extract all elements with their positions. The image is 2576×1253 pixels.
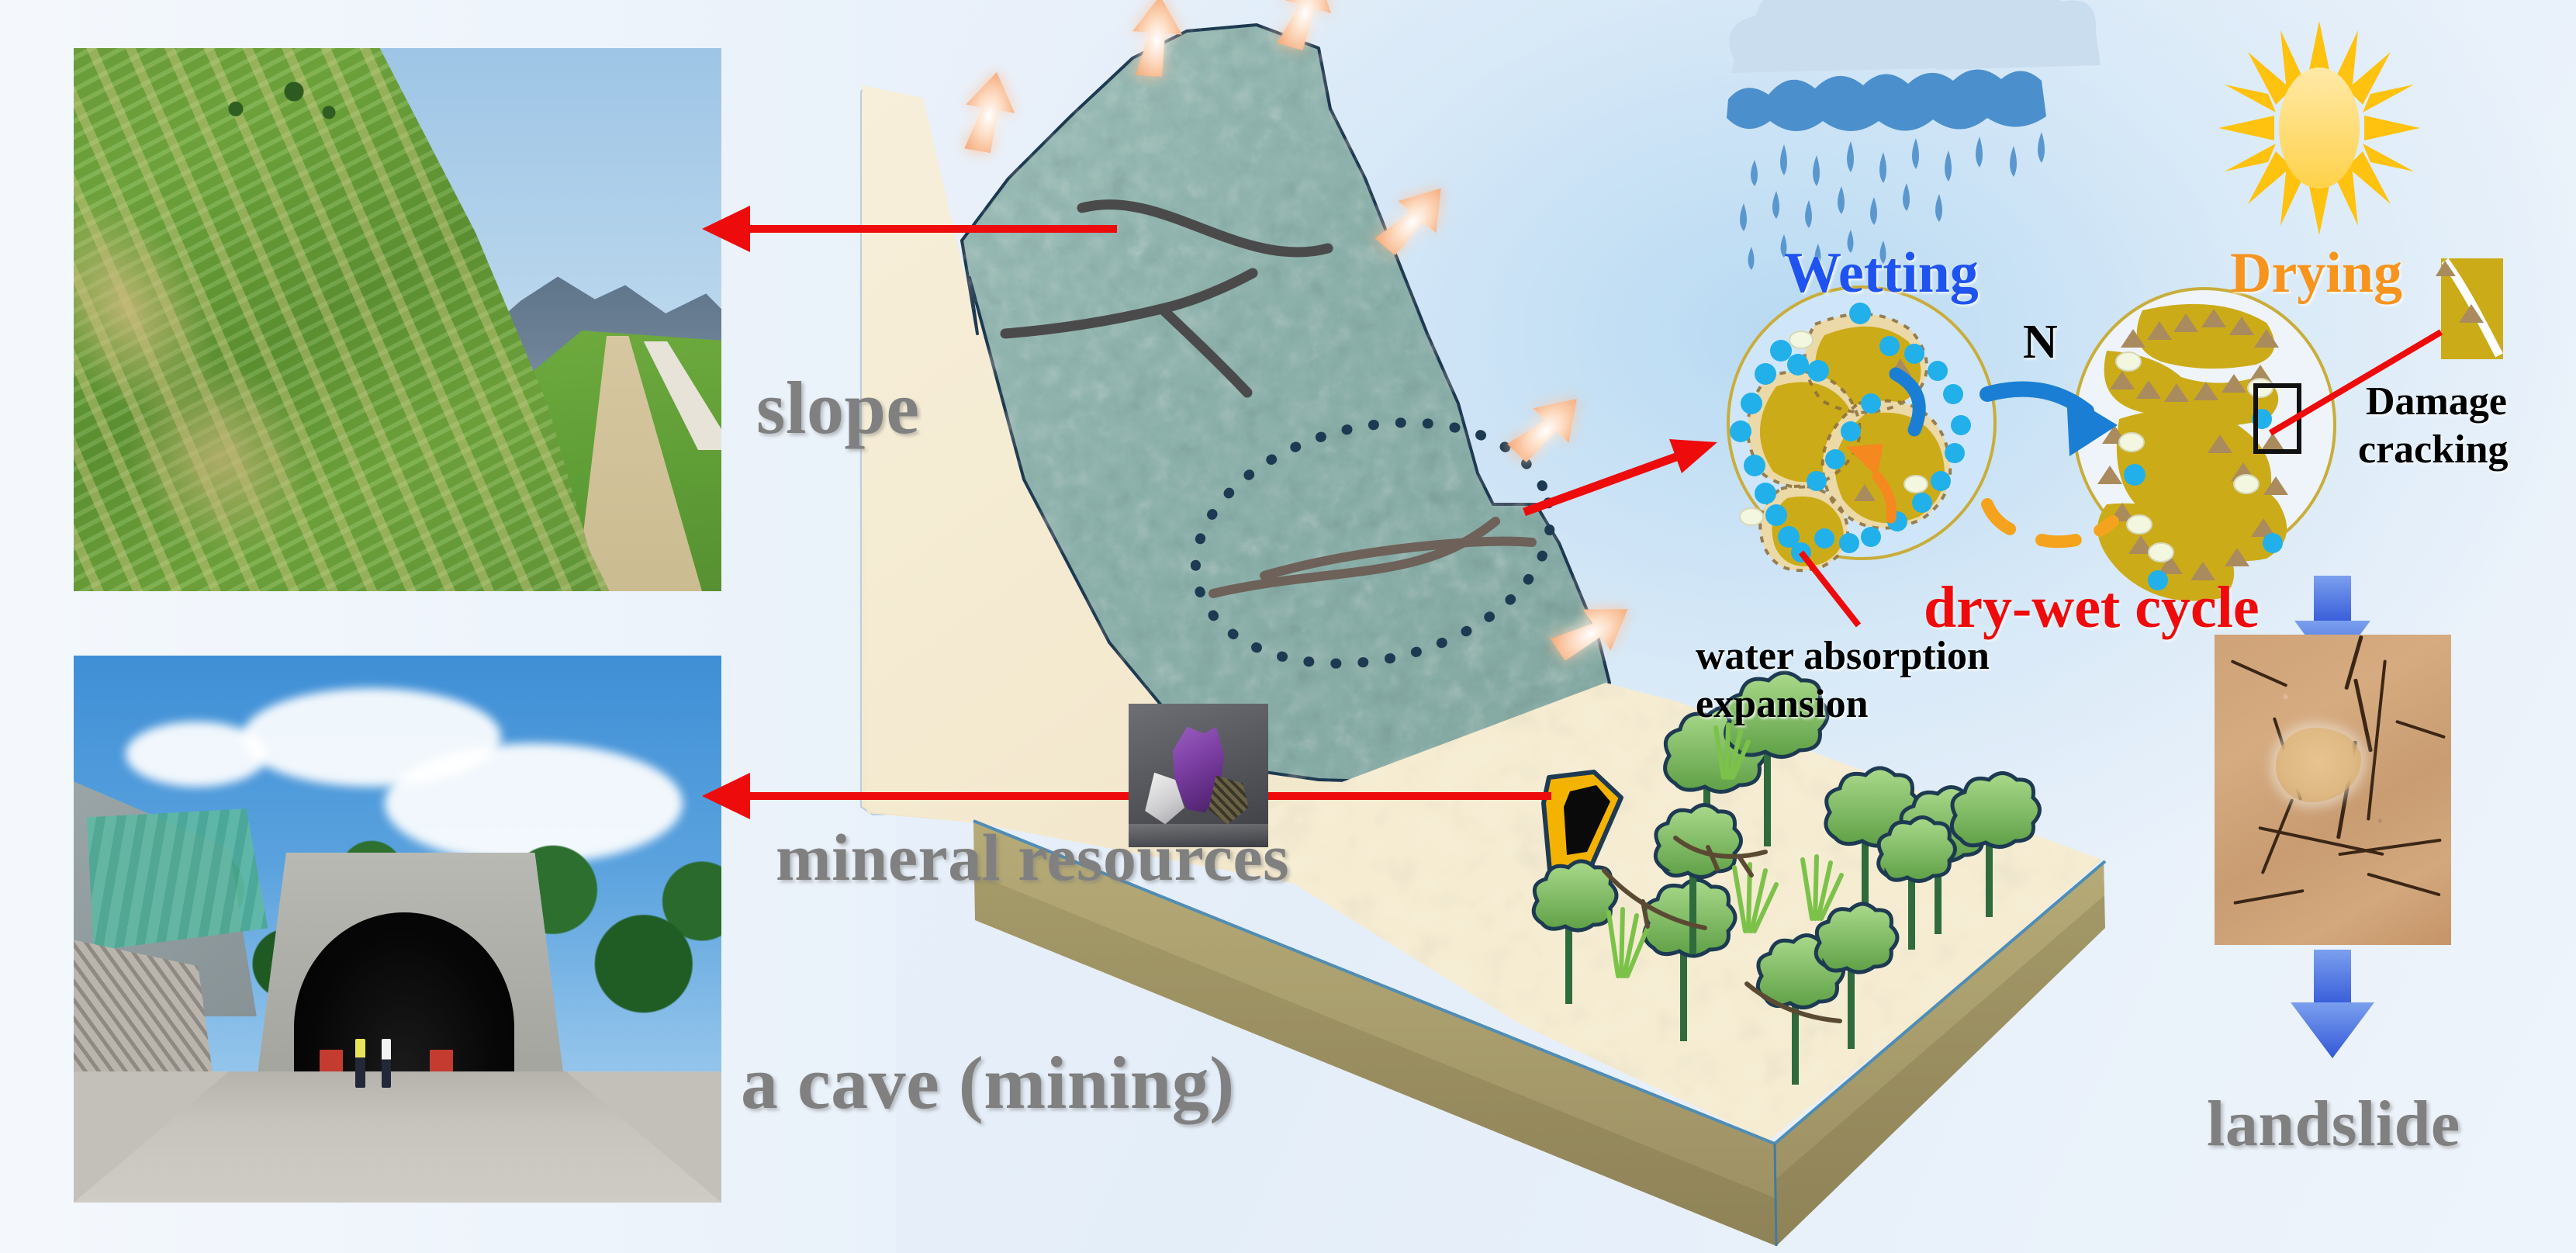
water-absorption-label: water absorption xyxy=(1696,635,1990,678)
rain-cloud-icon xyxy=(1727,0,2101,270)
crack-sample-inset xyxy=(2436,258,2503,359)
cycle-count-label: N xyxy=(2023,317,2058,369)
callout-label-cave-mining: a cave (mining) xyxy=(741,1040,1235,1126)
drying-label: Drying xyxy=(2230,241,2402,306)
damage-label: Damage xyxy=(2366,380,2507,424)
dry-wet-cycle-label: dry-wet cycle xyxy=(1924,574,2260,642)
wetting-microstructure xyxy=(1728,287,1995,570)
drying-microstructure xyxy=(2074,289,2335,601)
graphical-abstract: slope mineral resources a cave (mining) … xyxy=(0,0,2576,1253)
slope-to-wetting-arrow xyxy=(1524,439,1717,512)
evaporation-arrow-icon xyxy=(1503,382,1595,474)
water-absorption-leader xyxy=(1801,552,1859,625)
sun-icon xyxy=(2218,21,2420,235)
cracking-label: cracking xyxy=(2358,428,2509,472)
expansion-label: expansion xyxy=(1696,683,1869,726)
wetting-label: Wetting xyxy=(1784,241,1979,306)
cracked-soil-photo xyxy=(2215,635,2451,945)
callout-label-mineral-resources: mineral resources xyxy=(776,819,1289,896)
soil-to-landslide-arrow xyxy=(2291,950,2374,1058)
evaporation-arrow-icon xyxy=(958,67,1021,156)
callout-label-slope: slope xyxy=(756,365,920,451)
callout-label-landslide: landslide xyxy=(2207,1086,2460,1161)
